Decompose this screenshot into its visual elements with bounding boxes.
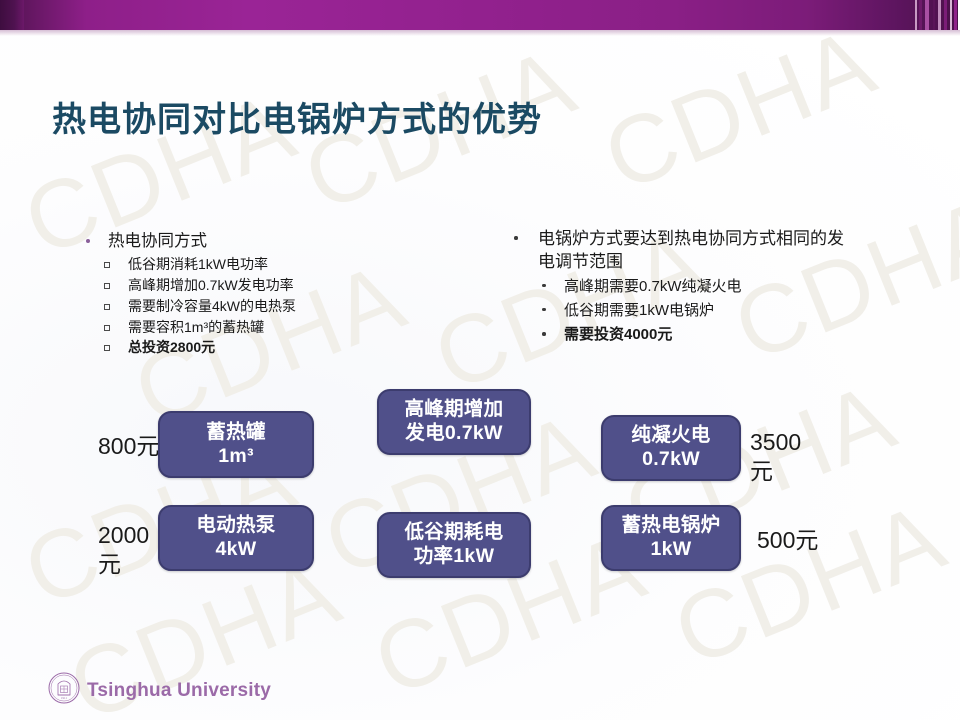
bullet-square-icon: [104, 262, 128, 268]
box-line-1: 低谷期耗电: [404, 521, 503, 545]
price-electric-boiler: 500元: [757, 526, 818, 555]
top-decorative-band: [0, 0, 960, 30]
left-item-label: 高峰期增加0.7kW发电功率: [128, 275, 436, 296]
bullet-square-icon: [104, 304, 128, 310]
top-band-left-cap: [0, 0, 24, 30]
box-condensing-power[interactable]: 纯凝火电 0.7kW: [601, 415, 741, 481]
box-electric-boiler[interactable]: 蓄热电锅炉 1kW: [601, 505, 741, 571]
right-bullet-block: 电锅炉方式要达到热电协同方式相同的发电调节范围 高峰期需要0.7kW纯凝火电 低…: [514, 228, 844, 347]
box-line-1: 高峰期增加: [404, 398, 503, 422]
svg-text:1911: 1911: [61, 696, 67, 700]
list-item: 高峰期增加0.7kW发电功率: [86, 275, 436, 296]
left-item-label: 低谷期消耗1kW电功率: [128, 254, 436, 275]
list-item: 总投资2800元: [86, 337, 436, 358]
box-heat-storage-tank[interactable]: 蓄热罐 1m³: [158, 411, 314, 478]
left-item-label-total: 总投资2800元: [128, 337, 436, 358]
price-electric-heat-pump: 2000 元: [98, 521, 149, 580]
box-electric-heat-pump[interactable]: 电动热泵 4kW: [158, 505, 314, 571]
box-line-2: 发电0.7kW: [405, 422, 502, 446]
bullet-dot-icon: [86, 239, 108, 243]
box-line-1: 蓄热电锅炉: [621, 514, 720, 538]
bullet-dot-icon: [542, 308, 564, 312]
box-valley-consumption[interactable]: 低谷期耗电 功率1kW: [377, 512, 531, 578]
box-peak-generation[interactable]: 高峰期增加 发电0.7kW: [377, 389, 531, 455]
box-line-2: 功率1kW: [414, 545, 495, 569]
list-item: 需要制冷容量4kW的电热泵: [86, 296, 436, 317]
list-item: 需要容积1m³的蓄热罐: [86, 317, 436, 338]
left-heading-row: 热电协同方式: [86, 230, 436, 253]
price-condensing-power: 3500 元: [750, 428, 801, 487]
right-item-label-total: 需要投资4000元: [564, 323, 844, 347]
box-line-2: 1kW: [651, 538, 692, 562]
box-line-1: 纯凝火电: [631, 424, 710, 448]
list-item: 低谷期消耗1kW电功率: [86, 254, 436, 275]
left-heading-label: 热电协同方式: [108, 230, 436, 253]
right-heading-label: 电锅炉方式要达到热电协同方式相同的发电调节范围: [538, 228, 844, 274]
top-band-shadow: [0, 30, 960, 36]
box-line-2: 1m³: [218, 445, 254, 469]
box-line-2: 0.7kW: [642, 448, 700, 472]
bullet-square-icon: [104, 345, 128, 351]
page-title: 热电协同对比电锅炉方式的优势: [52, 100, 812, 141]
list-item: 低谷期需要1kW电锅炉: [514, 299, 844, 323]
box-line-2: 4kW: [216, 538, 257, 562]
box-line-1: 蓄热罐: [206, 421, 265, 445]
left-item-label: 需要制冷容量4kW的电热泵: [128, 296, 436, 317]
list-item: 需要投资4000元: [514, 323, 844, 347]
bullet-dot-icon: [514, 236, 538, 240]
right-item-label: 低谷期需要1kW电锅炉: [564, 299, 844, 323]
right-heading-row: 电锅炉方式要达到热电协同方式相同的发电调节范围: [514, 228, 844, 274]
left-item-label: 需要容积1m³的蓄热罐: [128, 317, 436, 338]
university-name: Tsinghua University: [87, 680, 271, 702]
bullet-square-icon: [104, 325, 128, 331]
bullet-dot-icon: [542, 332, 564, 336]
box-line-1: 电动热泵: [196, 514, 275, 538]
slide-canvas: CDHA CDHA CDHA CDHA CDHA CDHA CDHA CDHA …: [0, 0, 960, 720]
left-bullet-block: 热电协同方式 低谷期消耗1kW电功率 高峰期增加0.7kW发电功率 需要制冷容量…: [86, 230, 436, 358]
bullet-square-icon: [104, 283, 128, 289]
price-heat-storage-tank: 800元: [98, 432, 159, 461]
list-item: 高峰期需要0.7kW纯凝火电: [514, 275, 844, 299]
right-edge-stripes: [914, 0, 960, 36]
bullet-dot-icon: [542, 284, 564, 288]
right-item-label: 高峰期需要0.7kW纯凝火电: [564, 275, 844, 299]
footer-branding: 1911 Tsinghua University: [48, 672, 271, 709]
tsinghua-seal-icon: 1911: [48, 672, 80, 709]
